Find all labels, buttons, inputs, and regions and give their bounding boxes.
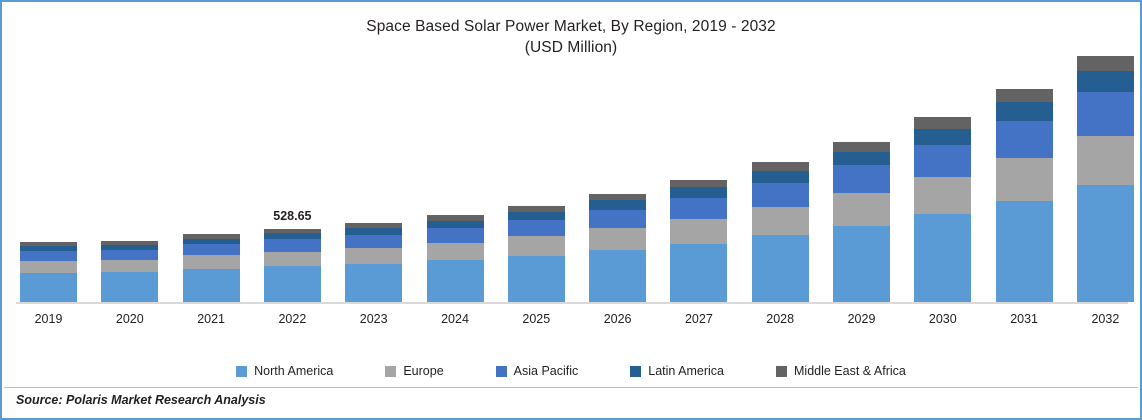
bar-segment[interactable] [427, 243, 484, 261]
bar-segment[interactable] [833, 193, 890, 225]
bar-segment[interactable] [427, 260, 484, 302]
bar-segment[interactable] [752, 171, 809, 183]
x-tick-label-2029: 2029 [833, 312, 890, 326]
bar-segment[interactable] [183, 255, 240, 269]
legend-item-europe[interactable]: Europe [385, 364, 443, 378]
bar-segment[interactable] [589, 194, 646, 201]
bar-segment[interactable] [508, 236, 565, 255]
bar-segment[interactable] [996, 102, 1053, 120]
legend-label: Latin America [648, 364, 724, 378]
bar-data-label: 528.65 [273, 209, 311, 223]
bar-segment[interactable] [345, 264, 402, 302]
bar-segment[interactable] [101, 272, 158, 302]
bar-column[interactable] [101, 241, 158, 302]
bar-segment[interactable] [670, 219, 727, 244]
legend-label: North America [254, 364, 333, 378]
bar-column[interactable] [345, 223, 402, 302]
bar-segment[interactable] [996, 201, 1053, 302]
bar-column[interactable] [1077, 56, 1134, 302]
bar-segment[interactable] [264, 239, 321, 251]
legend-swatch-icon [776, 366, 787, 377]
legend-swatch-icon [496, 366, 507, 377]
bar-segment[interactable] [833, 152, 890, 166]
bar-segment[interactable] [914, 145, 971, 177]
bar-column[interactable] [996, 89, 1053, 302]
bar-segment[interactable] [1077, 56, 1134, 71]
bar-segment[interactable] [345, 228, 402, 235]
bar-segment[interactable] [589, 228, 646, 250]
bar-segment[interactable] [508, 256, 565, 302]
bar-segment[interactable] [183, 269, 240, 302]
bar-segment[interactable] [670, 198, 727, 219]
bar-segment[interactable] [345, 248, 402, 264]
x-tick-label-2031: 2031 [996, 312, 1053, 326]
bar-segment[interactable] [589, 250, 646, 302]
bar-segment[interactable] [101, 250, 158, 260]
source-note: Source: Polaris Market Research Analysis [16, 393, 266, 407]
bar-segment[interactable] [752, 183, 809, 207]
bar-segment[interactable] [20, 251, 77, 261]
bar-segment[interactable] [914, 214, 971, 302]
x-tick-label-2027: 2027 [670, 312, 727, 326]
bar-segment[interactable] [833, 142, 890, 152]
bar-segment[interactable] [1077, 92, 1134, 135]
bar-segment[interactable] [996, 121, 1053, 158]
bar-column[interactable] [20, 242, 77, 302]
legend-item-latin-america[interactable]: Latin America [630, 364, 724, 378]
x-tick-label-2023: 2023 [345, 312, 402, 326]
legend-label: Asia Pacific [514, 364, 579, 378]
x-tick-label-2020: 2020 [101, 312, 158, 326]
bar-segment[interactable] [1077, 185, 1134, 302]
bar-segment[interactable] [508, 212, 565, 220]
bar-segment[interactable] [508, 220, 565, 236]
x-tick-label-2026: 2026 [589, 312, 646, 326]
bar-column[interactable] [589, 194, 646, 302]
bar-segment[interactable] [589, 200, 646, 209]
bar-segment[interactable] [20, 273, 77, 302]
x-tick-label-2032: 2032 [1077, 312, 1134, 326]
legend-swatch-icon [236, 366, 247, 377]
bar-segment[interactable] [264, 252, 321, 267]
chart-title: Space Based Solar Power Market, By Regio… [2, 16, 1140, 58]
bar-column[interactable] [752, 162, 809, 302]
bar-segment[interactable] [752, 162, 809, 170]
x-axis-line [16, 302, 1128, 304]
bar-segment[interactable] [914, 177, 971, 214]
bar-segment[interactable] [914, 117, 971, 128]
bar-column[interactable] [914, 117, 971, 302]
bar-segment[interactable] [833, 165, 890, 193]
legend-item-middle-east-africa[interactable]: Middle East & Africa [776, 364, 906, 378]
legend-item-asia-pacific[interactable]: Asia Pacific [496, 364, 579, 378]
bar-column[interactable]: 528.65 [264, 229, 321, 302]
x-tick-label-2019: 2019 [20, 312, 77, 326]
x-tick-label-2022: 2022 [264, 312, 321, 326]
chart-title-line-1: Space Based Solar Power Market, By Regio… [2, 16, 1140, 37]
bar-segment[interactable] [345, 235, 402, 248]
bar-segment[interactable] [183, 244, 240, 255]
x-tick-label-2028: 2028 [752, 312, 809, 326]
bar-segment[interactable] [101, 260, 158, 272]
bar-segment[interactable] [1077, 71, 1134, 92]
bar-segment[interactable] [427, 221, 484, 228]
legend-swatch-icon [630, 366, 641, 377]
bar-segment[interactable] [20, 261, 77, 273]
bar-column[interactable] [427, 215, 484, 302]
bar-segment[interactable] [264, 266, 321, 302]
bar-segment[interactable] [670, 180, 727, 188]
bar-segment[interactable] [752, 207, 809, 235]
chart-legend: North AmericaEuropeAsia PacificLatin Ame… [2, 360, 1140, 382]
bar-segment[interactable] [670, 187, 727, 197]
legend-label: Middle East & Africa [794, 364, 906, 378]
bar-segment[interactable] [996, 158, 1053, 201]
x-tick-label-2025: 2025 [508, 312, 565, 326]
bar-segment[interactable] [914, 129, 971, 145]
bar-segment[interactable] [670, 244, 727, 302]
footer-divider [4, 387, 1138, 388]
bar-column[interactable] [183, 234, 240, 302]
x-tick-label-2024: 2024 [427, 312, 484, 326]
bar-segment[interactable] [427, 228, 484, 243]
bar-column[interactable] [833, 142, 890, 302]
bar-segment[interactable] [752, 235, 809, 302]
chart-figure: Space Based Solar Power Market, By Regio… [0, 0, 1142, 420]
bar-segment[interactable] [1077, 136, 1134, 186]
x-tick-label-2021: 2021 [183, 312, 240, 326]
bar-column[interactable] [670, 180, 727, 302]
legend-item-north-america[interactable]: North America [236, 364, 333, 378]
x-tick-label-2030: 2030 [914, 312, 971, 326]
bar-column[interactable] [508, 206, 565, 302]
bar-segment[interactable] [833, 226, 890, 302]
legend-label: Europe [403, 364, 443, 378]
bar-segment[interactable] [996, 89, 1053, 102]
plot-area: 528.65 [16, 54, 1128, 304]
bar-segment[interactable] [589, 210, 646, 229]
legend-swatch-icon [385, 366, 396, 377]
x-axis-tick-labels: 2019202020212022202320242025202620272028… [16, 308, 1128, 332]
